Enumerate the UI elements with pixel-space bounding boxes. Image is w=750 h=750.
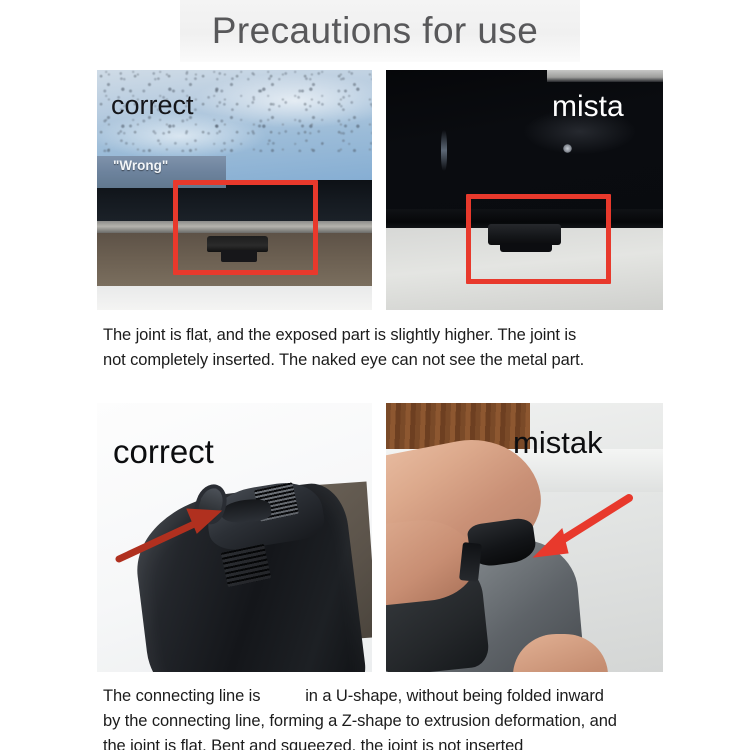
bottom-left-correct-label: correct [113,435,214,468]
top-right-mistake-label: mista [552,92,624,122]
bottom-caption-text: The connecting line is in a U-shape, wit… [103,684,671,750]
photo-glint [441,130,447,171]
top-right-highlight-box [466,194,611,284]
top-right-photo-panel: mista [386,70,663,310]
bottom-right-photo-panel: mistak [386,403,663,672]
top-caption-text: The joint is flat, and the exposed part … [103,323,663,373]
photo-floor [97,286,372,310]
top-left-correct-label: correct [111,92,194,119]
precautions-page: Precautions for use correct "Wrong" [0,0,750,750]
top-left-photo-panel: correct "Wrong" [97,70,372,310]
bottom-right-mistake-label: mistak [513,427,603,458]
top-left-highlight-box [173,180,318,275]
page-title: Precautions for use [0,8,750,54]
photo-top-highlight [547,70,663,82]
wrong-badge-text: "Wrong" [113,159,168,173]
bottom-left-photo-panel: correct [97,403,372,672]
